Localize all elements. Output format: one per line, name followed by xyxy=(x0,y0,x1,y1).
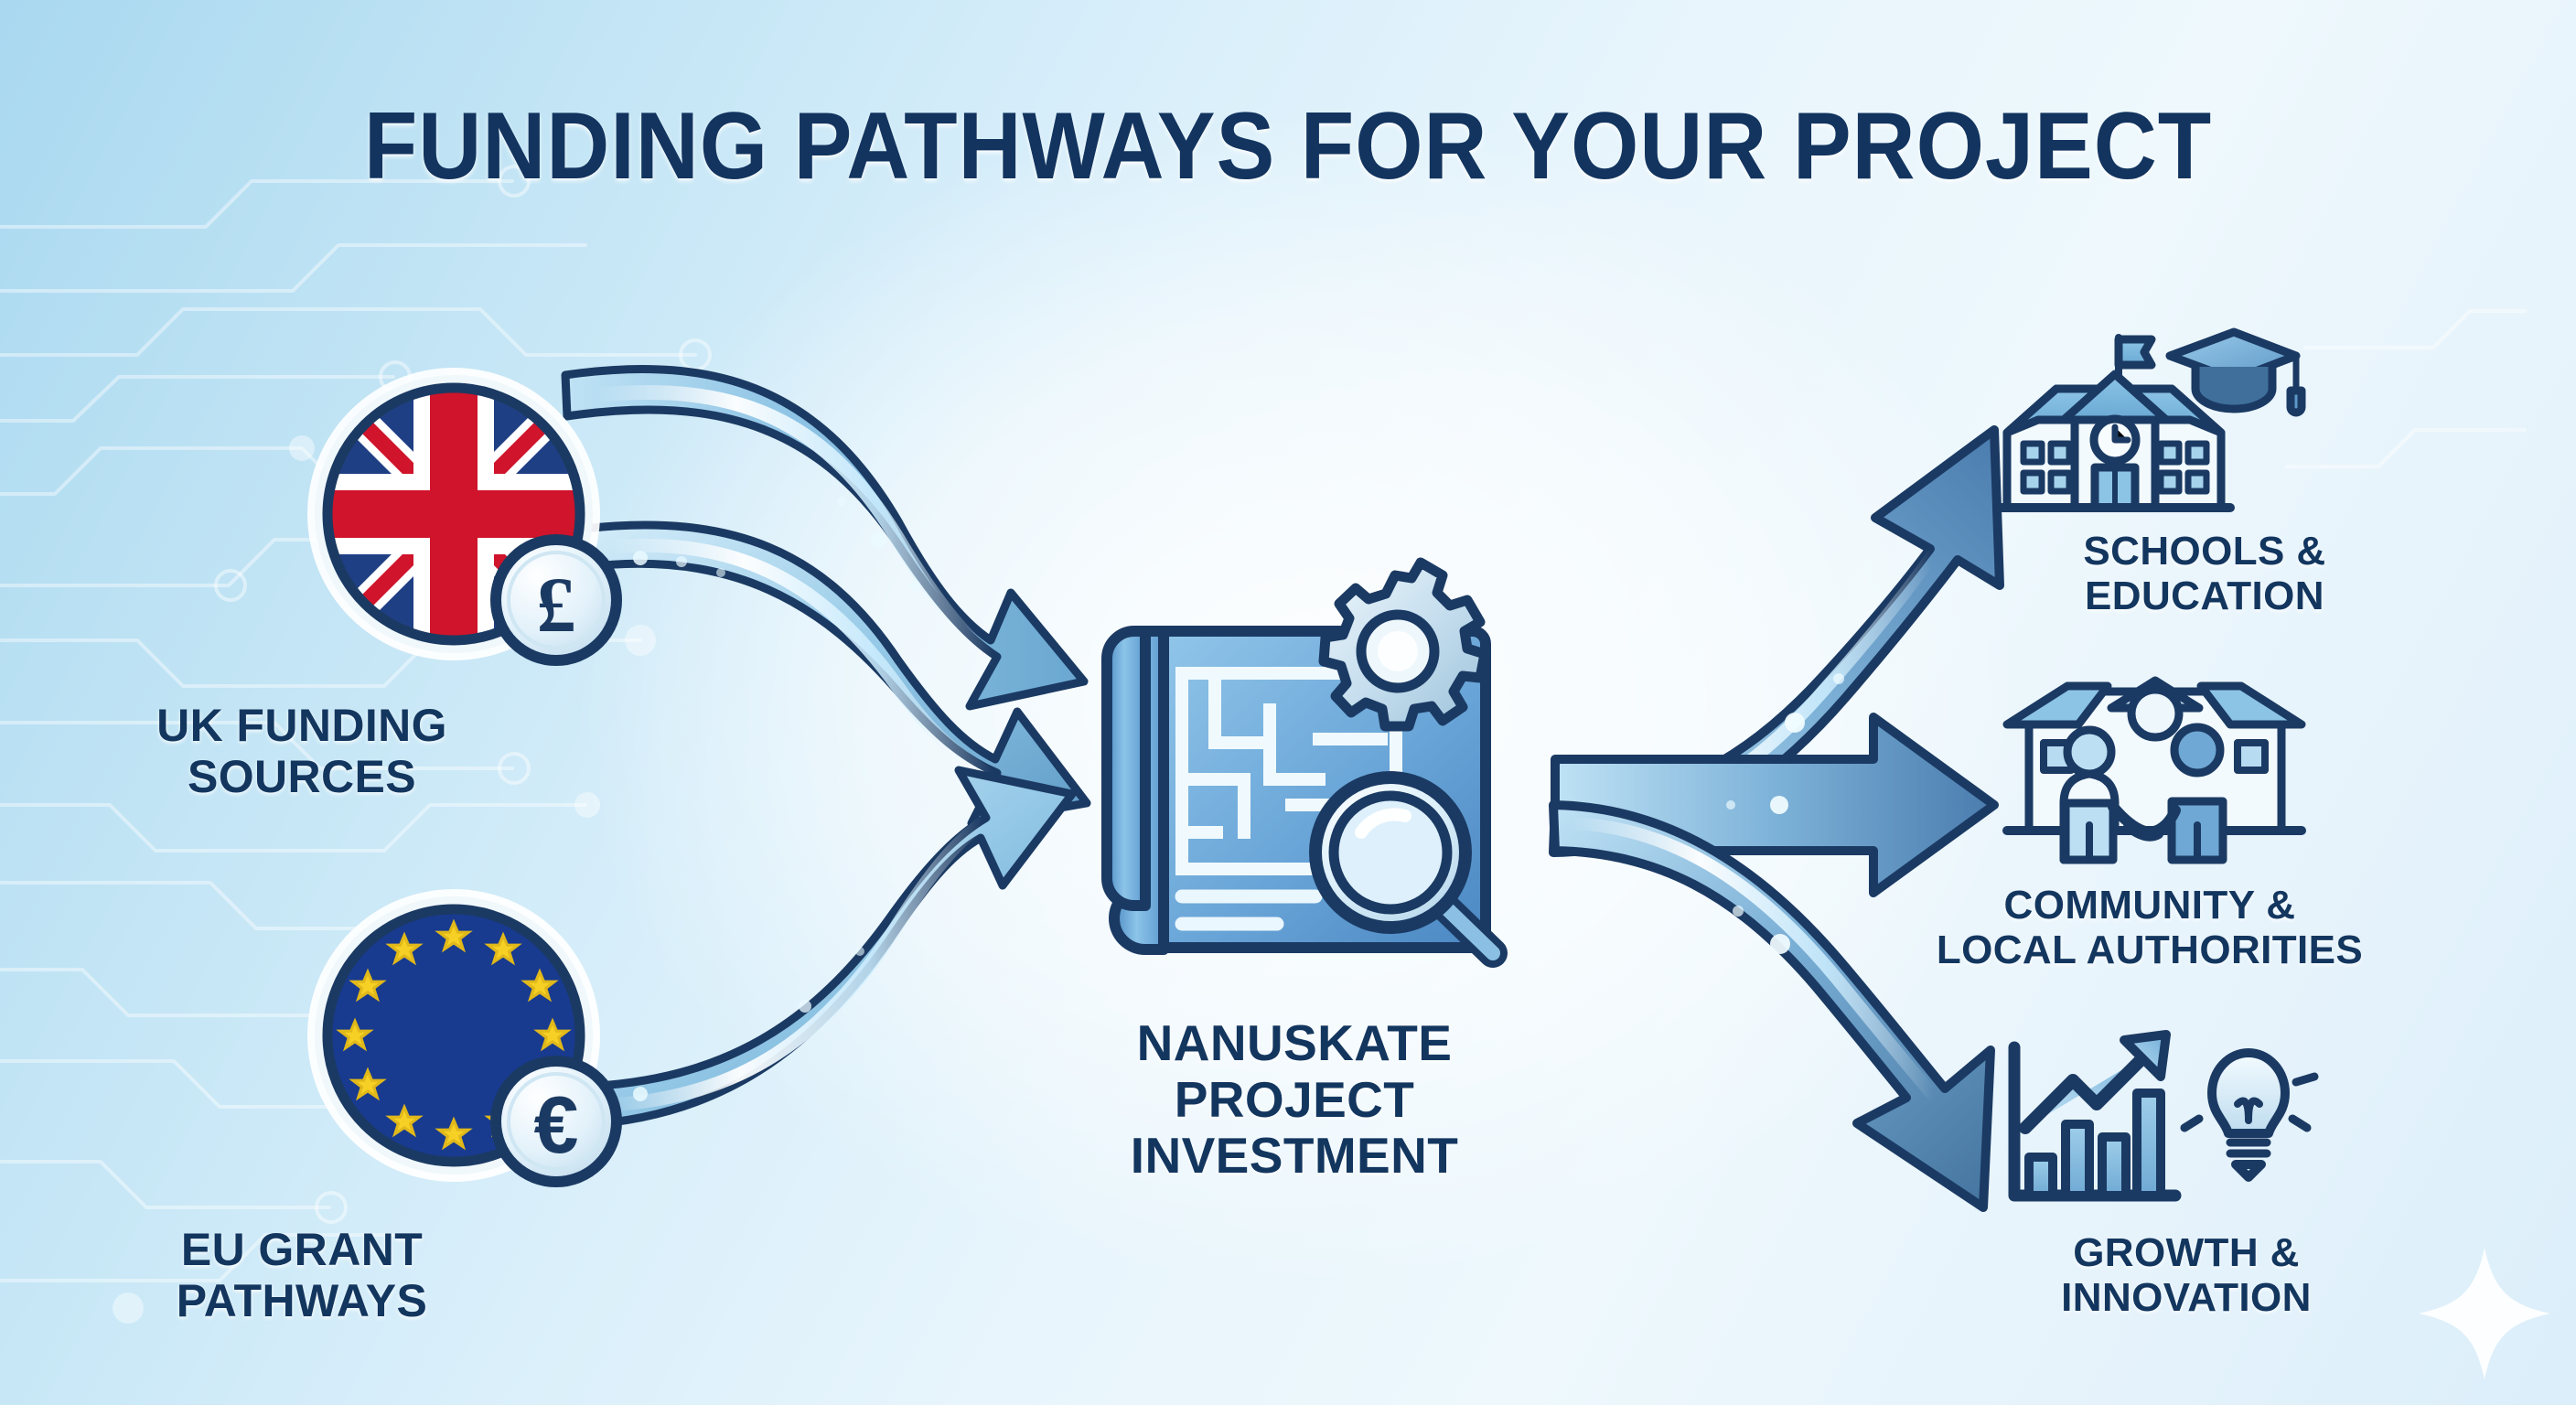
outcome-label-growth: GROWTH & INNOVATION xyxy=(1930,1230,2442,1321)
growth-chart-icon xyxy=(1994,1029,2314,1221)
outcome-label-community: COMMUNITY & LOCAL AUTHORITIES xyxy=(1894,883,2406,973)
blueprint-plan-icon xyxy=(1079,531,1555,988)
infographic-canvas: £ € xyxy=(0,0,2576,1405)
pound-coin-icon: £ xyxy=(496,540,617,660)
page-title: FUNDING PATHWAYS FOR YOUR PROJECT xyxy=(103,99,2474,194)
community-handshake-icon xyxy=(1994,688,2314,871)
center-label: NANUSKATE PROJECT INVESTMENT xyxy=(1011,1015,1578,1185)
uk-flag-circle-icon: £ xyxy=(274,357,640,695)
lightbulb-icon xyxy=(2184,1053,2314,1177)
svg-text:€: € xyxy=(534,1079,579,1170)
svg-text:£: £ xyxy=(537,561,576,649)
gear-icon xyxy=(1324,563,1485,726)
source-label-uk: UK FUNDING SOURCES xyxy=(91,700,512,802)
outcome-label-schools: SCHOOLS & EDUCATION xyxy=(1948,529,2461,619)
euro-coin-icon: € xyxy=(496,1061,617,1182)
source-label-eu: EU GRANT PATHWAYS xyxy=(91,1224,512,1326)
arrow-center-to-growth xyxy=(1553,805,1991,1207)
school-building-icon xyxy=(1994,325,2314,517)
eu-flag-circle-icon: € xyxy=(274,878,640,1217)
